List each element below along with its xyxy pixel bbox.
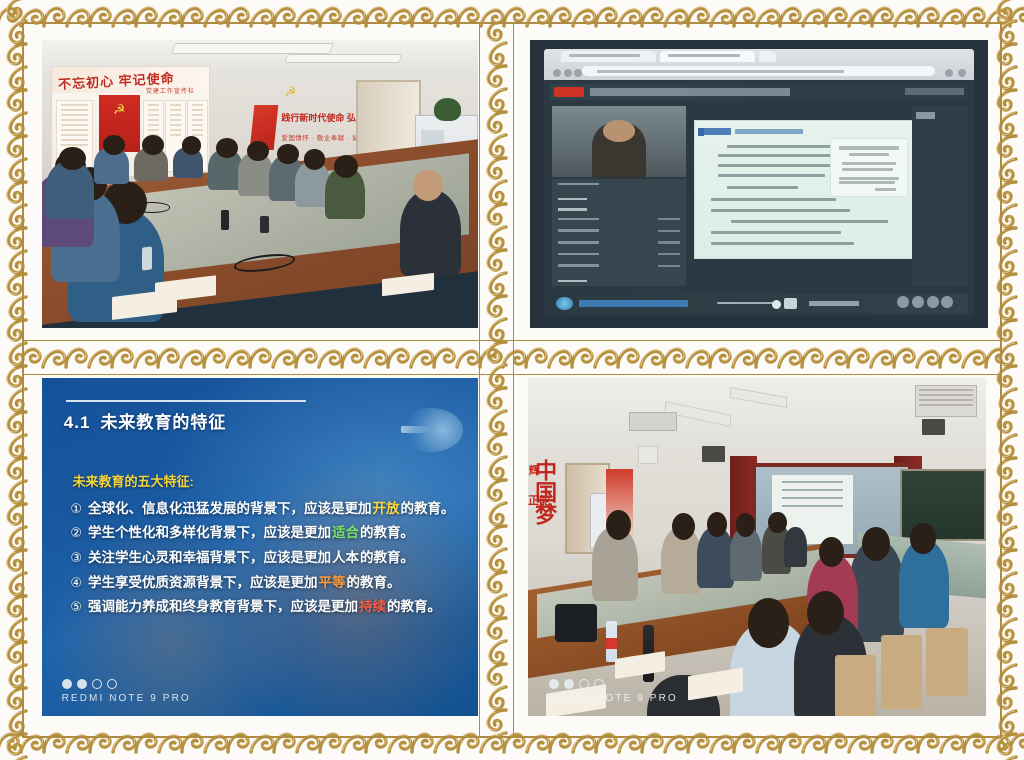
- backpack: [555, 604, 596, 641]
- browser-chrome: [544, 49, 975, 81]
- right-side-panel[interactable]: [912, 106, 968, 285]
- meeting-header-bar: [550, 84, 968, 101]
- bullet-text-after: 的教育。: [400, 500, 454, 519]
- browser-tab-0[interactable]: [561, 51, 656, 62]
- person-head-11: [304, 149, 326, 169]
- slider-knob[interactable]: [772, 300, 781, 309]
- speaker-head: [603, 120, 635, 141]
- shared-slide: [694, 120, 920, 259]
- fullscreen-icon[interactable]: [941, 296, 953, 308]
- speaker-box-right: [922, 419, 945, 436]
- divider-horizontal-ornament: [22, 341, 1002, 375]
- online-livestream-screenshot: [530, 40, 988, 328]
- ceiling-light-2: [284, 54, 403, 63]
- slide-heading: [704, 128, 807, 135]
- bullet-highlight: 持续: [358, 598, 387, 617]
- speaker-box-left: [702, 446, 725, 463]
- progress-slider[interactable]: [717, 302, 775, 304]
- hairline-right: [1000, 22, 1002, 738]
- back-icon[interactable]: [553, 69, 561, 77]
- hairline-mid-h1: [22, 340, 1002, 341]
- captions-icon[interactable]: [927, 296, 939, 308]
- frame-right-ornament: [990, 0, 1024, 760]
- bullet-highlight: 适合: [331, 524, 360, 543]
- attendee-head-11: [807, 591, 844, 635]
- meeting-room-photo: 不忘初心 牢记使命 ☭ 党建工作宣传栏 ☭ 践行新时代使命 弘扬党的精神 爱国情…: [42, 40, 478, 328]
- extensions-icon[interactable]: [945, 69, 953, 77]
- hairline-mid-h2: [22, 374, 1002, 375]
- person-head-13: [413, 170, 444, 202]
- bullet-highlight: 人本: [331, 549, 360, 568]
- slide-bullet-item: ④ 学生享受优质资源背景下，应该是更加平等的教育。: [70, 574, 462, 593]
- attendee-head-3: [707, 512, 728, 537]
- footer-brand-text: [579, 300, 688, 306]
- plant-decor: [434, 98, 460, 121]
- classroom-lecture-photo: 辉 正能 中国梦: [528, 378, 986, 716]
- chair-2: [881, 635, 922, 709]
- browser-tab-1[interactable]: [660, 51, 755, 62]
- bullet-text-before: 全球化、信息化迅猛发展的背景下，应该是更加: [88, 500, 372, 519]
- bullet-text-after: 的教育。: [387, 598, 441, 617]
- slide-surface: 4.1未来教育的特征 未来教育的五大特征: ① 全球化、信息化迅猛发展的背景下，…: [42, 378, 478, 716]
- browser-new-tab-button[interactable]: [759, 51, 776, 62]
- chair-3: [835, 655, 876, 716]
- institution-logo-icon: [397, 408, 462, 452]
- document-stamp-image: [830, 138, 908, 198]
- header-user-area[interactable]: [905, 88, 963, 95]
- frame-bottom-ornament: [0, 726, 1024, 760]
- attendee-head-9: [819, 537, 844, 567]
- water-bottle: [142, 247, 152, 271]
- bullet-text-after: 的教育。: [360, 524, 414, 543]
- thermos-cup: [221, 210, 230, 230]
- bullet-highlight: 开放: [371, 500, 400, 519]
- glasses-icon: [134, 202, 171, 213]
- air-vent: [915, 385, 977, 417]
- classroom-slogan-group: 辉 正能 中国梦: [528, 459, 601, 533]
- watermark-dots: [549, 679, 678, 689]
- lamp-hanger: [638, 446, 658, 465]
- bullet-marker: ③: [70, 549, 82, 567]
- attendee-head-8: [910, 523, 935, 553]
- bullet-text-before: 强调能力养成和终身教育背景下，应该是更加: [88, 598, 358, 617]
- slide-bullet-item: ② 学生个性化和多样化背景下，应该是更加适合的教育。: [70, 524, 462, 543]
- thermos-cup-2: [260, 216, 269, 233]
- bullet-marker: ①: [70, 500, 82, 518]
- chair-1: [926, 628, 967, 696]
- hairline-top: [22, 22, 1002, 24]
- slide-bullet-list: ① 全球化、信息化迅猛发展的背景下，应该是更加开放的教育。 ② 学生个性化和多样…: [70, 500, 462, 623]
- attendee-head-7: [862, 527, 889, 561]
- slide-lead-text: 未来教育的五大特征:: [73, 471, 194, 490]
- settings-icon[interactable]: [897, 296, 909, 308]
- browser-window: [530, 40, 988, 328]
- camera-watermark: REDMI NOTE 9 PRO: [62, 679, 191, 704]
- person-head-9: [247, 141, 269, 161]
- water-bottle: [606, 621, 617, 662]
- attendee-6: [784, 527, 807, 568]
- slide-title-rule: [66, 400, 306, 402]
- volume-icon[interactable]: [912, 296, 924, 308]
- hairline-mid-v2: [513, 22, 514, 738]
- bullet-marker: ②: [70, 524, 82, 542]
- slide-bullet-item: ③ 关注学生心灵和幸福背景下，应该是更加人本的教育。: [70, 549, 462, 568]
- attendee-head-10: [748, 598, 789, 649]
- camera-watermark: REDMI NOTE 9 PRO: [549, 679, 678, 704]
- browser-tabbar: [544, 49, 975, 64]
- watermark-dots: [62, 679, 191, 689]
- hammer-sickle-icon: ☭: [108, 102, 130, 120]
- slide-title: 4.1未来教育的特征: [64, 408, 227, 433]
- platform-logo-icon: [554, 87, 583, 96]
- slide-title-text: 未来教育的特征: [100, 413, 226, 432]
- brand-logo-icon: [556, 297, 573, 309]
- bullet-text-before: 学生个性化和多样化背景下，应该是更加: [88, 524, 331, 543]
- divider-vertical-ornament: [480, 22, 514, 738]
- bullet-text-before: 关注学生心灵和幸福背景下，应该是更加: [88, 549, 331, 568]
- hairline-left: [22, 22, 24, 738]
- watermark-label: REDMI NOTE 9 PRO: [62, 693, 191, 704]
- menu-icon[interactable]: [958, 69, 966, 77]
- attendee-head-1: [606, 510, 631, 540]
- frame-left-ornament: [0, 0, 34, 760]
- person-right-1: [400, 190, 461, 276]
- attendee-head-4: [736, 513, 754, 537]
- quality-label[interactable]: [809, 301, 859, 306]
- bullet-text-after: 的教育。: [346, 574, 400, 593]
- presentation-slide-photo: 4.1未来教育的特征 未来教育的五大特征: ① 全球化、信息化迅猛发展的背景下，…: [42, 378, 478, 716]
- hairline-bottom: [22, 736, 1002, 738]
- ceiling-light: [171, 43, 334, 54]
- person-head-4: [59, 147, 85, 170]
- microphone-icon[interactable]: [784, 298, 797, 309]
- hairline-mid-v1: [479, 22, 480, 738]
- board-subcaption: 党建工作宣传栏: [146, 86, 195, 95]
- slide-bullet-item: ① 全球化、信息化迅猛发展的背景下，应该是更加开放的教育。: [70, 500, 462, 519]
- slide-bullet-mark: [698, 128, 705, 136]
- classroom-dream-text: 中国梦: [533, 459, 555, 525]
- slide-section-number: 4.1: [64, 413, 91, 432]
- person-head-5: [103, 135, 125, 155]
- slide-bullet-item: ⑤ 强调能力养成和终身教育背景下，应该是更加持续的教育。: [70, 598, 462, 617]
- bullet-highlight: 平等: [317, 574, 346, 593]
- chat-panel[interactable]: [552, 179, 685, 285]
- page-body: [544, 80, 975, 316]
- classroom-scene: 辉 正能 中国梦: [528, 378, 986, 716]
- frame-top-ornament: [0, 0, 1024, 34]
- bullet-text-after: 的教育。: [360, 549, 414, 568]
- photo-collage: 不忘初心 牢记使命 ☭ 党建工作宣传栏 ☭ 践行新时代使命 弘扬党的精神 爱国情…: [0, 0, 1024, 760]
- bullet-marker: ④: [70, 574, 82, 592]
- attendee-head-5: [768, 512, 786, 534]
- forward-icon[interactable]: [564, 69, 572, 77]
- projector: [629, 412, 677, 431]
- watermark-label: REDMI NOTE 9 PRO: [549, 693, 678, 704]
- player-control-bar: [550, 294, 968, 313]
- address-bar[interactable]: [582, 66, 935, 76]
- meeting-title-text: [590, 88, 790, 96]
- bullet-marker: ⑤: [70, 598, 82, 616]
- person-head-10: [277, 144, 299, 164]
- party-emblem-icon: ☭: [285, 84, 305, 100]
- speaker-video-tile[interactable]: [552, 106, 685, 177]
- bullet-text-before: 学生享受优质资源背景下，应该是更加: [88, 574, 318, 593]
- reload-icon[interactable]: [574, 69, 582, 77]
